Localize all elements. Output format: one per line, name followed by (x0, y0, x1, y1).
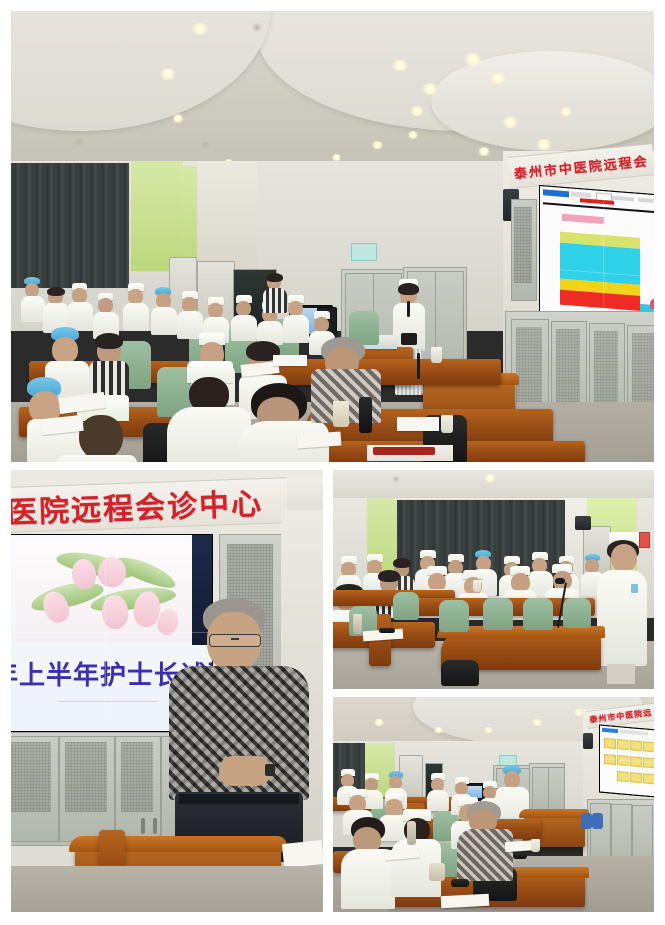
head (288, 301, 303, 316)
hair (47, 287, 65, 296)
hair (378, 570, 400, 582)
thermos-bottle (353, 614, 362, 634)
chair (483, 598, 513, 630)
wall-speaker (575, 516, 591, 530)
striped-top (263, 288, 287, 313)
downlight-icon (409, 106, 425, 116)
cabinet-door (548, 767, 565, 815)
paper-cup (531, 839, 540, 852)
wall-sign (351, 243, 377, 261)
chair (563, 598, 591, 628)
floor (11, 866, 323, 912)
uniform (123, 303, 149, 331)
downlight-icon (159, 68, 177, 80)
ceramic-cup (333, 401, 349, 427)
downlight-icon (371, 141, 384, 149)
downlight-icon (421, 83, 439, 95)
attendee (151, 287, 177, 335)
hair (393, 558, 411, 568)
dark-device (451, 879, 469, 887)
head (72, 288, 87, 303)
uniform (151, 307, 177, 335)
eyeglasses-icon (209, 634, 261, 647)
downlight-icon (391, 60, 409, 71)
downlight-icon (531, 719, 543, 726)
downlight-icon (483, 727, 494, 733)
cabinet-mesh-panel (514, 207, 532, 283)
cabinet-mesh-panel (121, 742, 153, 812)
blue-water-jug (592, 813, 603, 829)
paper-cup (441, 415, 453, 433)
head (156, 293, 171, 308)
nurse-uniform (597, 570, 647, 666)
microphone-head-icon (555, 578, 565, 584)
dark-device (379, 628, 395, 633)
hair (398, 283, 419, 295)
ceiling-oval-small (431, 51, 654, 151)
wristwatch-icon (265, 764, 275, 776)
cabinet-mesh-panel (65, 742, 107, 812)
downlight-icon (199, 141, 211, 149)
uniform (57, 455, 137, 462)
wall-accent-green (131, 161, 183, 271)
led-video-wall[interactable] (599, 724, 654, 797)
chair (523, 598, 553, 630)
scene-meeting-second-angle: 泰州市中医院远 (333, 697, 654, 912)
downlight-icon (463, 53, 483, 66)
legs (607, 664, 635, 684)
eyeglasses-bridge (231, 638, 239, 640)
hair (266, 273, 283, 282)
downlight-icon (477, 147, 491, 156)
paper-document (397, 417, 439, 431)
head (504, 771, 520, 788)
led-panel-seams (600, 726, 654, 797)
dark-device (513, 853, 527, 859)
microphone-icon (407, 301, 410, 317)
downlight-icon (191, 23, 209, 35)
head (208, 303, 223, 318)
scene-conference-room: 泰州市中医院远程会 (11, 11, 654, 462)
standing-nurse (595, 532, 649, 684)
name-badge (631, 584, 638, 593)
downlight-icon (391, 476, 401, 482)
paper-document (441, 894, 490, 908)
downlight-icon (331, 154, 342, 161)
downlight-icon (433, 727, 444, 733)
ceramic-teapot (429, 863, 445, 881)
scene-nurse-audience (333, 470, 654, 689)
cabinet-mesh-panel (11, 742, 51, 812)
downlight-icon (559, 107, 573, 116)
attendee (427, 773, 449, 811)
head (52, 337, 78, 363)
head (79, 415, 123, 459)
blue-water-jug (581, 813, 592, 829)
downlight-icon (373, 719, 385, 726)
head (98, 298, 113, 313)
thermos-bottle (407, 821, 416, 845)
photo-meeting-room-second-angle[interactable]: 泰州市中医院远 (333, 697, 654, 912)
attendee (67, 283, 93, 331)
attendee (263, 273, 287, 313)
banner-text: 泰州市中医院远程会 (513, 150, 649, 182)
head (314, 317, 329, 332)
uniform (283, 315, 309, 343)
downlight-icon (535, 139, 553, 150)
chair (441, 660, 479, 686)
wall-speaker (583, 733, 593, 749)
chair (439, 600, 469, 632)
paper-cup (473, 580, 481, 592)
photo-collage: 泰州市中医院远程会 (0, 0, 665, 925)
photo-speaker-at-podium[interactable]: 医院远程会诊中心 (11, 470, 323, 912)
attendee (21, 277, 45, 321)
downlight-icon (489, 73, 507, 84)
downlight-icon (483, 474, 497, 482)
downlight-icon (407, 131, 419, 139)
podium-top (519, 809, 589, 818)
downlight-icon (251, 23, 263, 32)
attendee-elder (457, 801, 513, 881)
chair (393, 592, 419, 620)
head (128, 289, 143, 304)
attendee (177, 291, 203, 339)
photo-nurses-audience-listening[interactable] (333, 470, 654, 689)
thermos-bottle (359, 397, 372, 433)
head (236, 301, 251, 316)
microphone-icon (417, 353, 420, 379)
photo-conference-room-wide-shot[interactable]: 泰州市中医院远程会 (11, 11, 654, 462)
scene-podium-speaker: 医院远程会诊中心 (11, 470, 323, 912)
attendee-foreground (341, 817, 395, 909)
patterned-top (457, 829, 513, 881)
downlight-icon (501, 117, 519, 128)
belt (179, 794, 299, 804)
downlight-icon (73, 138, 85, 146)
head (611, 544, 637, 572)
male-speaker (169, 598, 309, 862)
attendee-mid (89, 333, 129, 399)
attendee (123, 283, 149, 331)
hands (219, 756, 271, 786)
paper-cup (431, 347, 442, 363)
cabinet-door (532, 767, 549, 815)
uniform (427, 790, 449, 811)
paper-document (282, 840, 323, 868)
window-curtain (11, 163, 129, 288)
hair (95, 333, 123, 349)
banner-text: 医院远程会诊中心 (11, 479, 264, 532)
downlight-icon (172, 114, 184, 123)
uniform (21, 296, 45, 322)
paper-document (273, 355, 307, 366)
head (182, 297, 197, 312)
head (25, 283, 39, 297)
